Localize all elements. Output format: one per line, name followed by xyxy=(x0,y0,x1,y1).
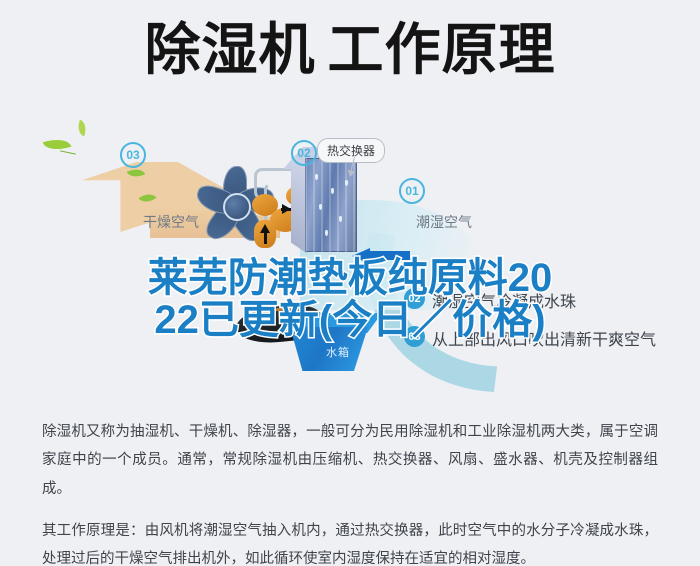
list-item: 03 从上部出风口吹出清新干爽空气 xyxy=(404,323,700,361)
list-item: 02 潮湿空气冷凝成水珠 xyxy=(404,285,700,323)
heat-exchanger-callout: 热交换器 xyxy=(317,138,385,163)
step-text: 从上部出风口吹出清新干爽空气 xyxy=(432,326,656,350)
step-text: 潮湿空气冷凝成水珠 xyxy=(432,288,576,312)
water-tank-illustration: 水箱 xyxy=(290,313,382,371)
condensation-drop xyxy=(331,188,334,194)
condensation-drop xyxy=(315,174,318,180)
steps-list: 02 潮湿空气冷凝成水珠 03 从上部出风口吹出清新干爽空气 xyxy=(404,285,700,361)
leaf-icon xyxy=(75,120,90,137)
fan-hub xyxy=(223,193,251,221)
leaf-stem xyxy=(60,150,76,154)
condensation-drop xyxy=(319,204,322,210)
humid-air-intake-arrow xyxy=(352,248,410,263)
condensation-drop xyxy=(339,216,342,222)
label-humid-air: 潮湿空气 xyxy=(416,212,472,232)
step-badge: 02 xyxy=(404,288,425,309)
page-title-part1: 除湿机 xyxy=(145,18,316,81)
label-dry-air: 干燥空气 xyxy=(143,212,199,232)
arrow-head xyxy=(352,248,370,264)
body-paragraph-1: 除湿机又称为抽湿机、干燥机、除湿器，一般可分为民用除湿机和工业除湿机两大类，属于… xyxy=(42,418,658,503)
diagram-badge-01: 01 xyxy=(399,178,425,204)
condensation-drop xyxy=(345,180,348,186)
article-body: 除湿机又称为抽湿机、干燥机、除湿器，一般可分为民用除湿机和工业除湿机两大类，属于… xyxy=(0,418,700,566)
page-title-part2: 工作原理 xyxy=(328,18,556,81)
page-root: 除湿机工作原理 xyxy=(0,0,700,566)
diagram-badge-02: 02 xyxy=(291,140,317,166)
diagram-badge-03: 03 xyxy=(120,142,146,168)
step-badge: 03 xyxy=(404,326,425,347)
page-title: 除湿机工作原理 xyxy=(0,22,700,78)
body-paragraph-2: 其工作原理是：由风机将潮湿空气抽入机内，通过热交换器，此时空气中的水分子冷凝成水… xyxy=(42,517,658,566)
water-tank-label: 水箱 xyxy=(326,344,350,360)
arrow-bar xyxy=(368,251,410,260)
condensation-drop xyxy=(325,230,328,236)
flow-arrow-up-icon xyxy=(260,224,270,233)
flow-arrow-right-icon xyxy=(282,204,291,214)
